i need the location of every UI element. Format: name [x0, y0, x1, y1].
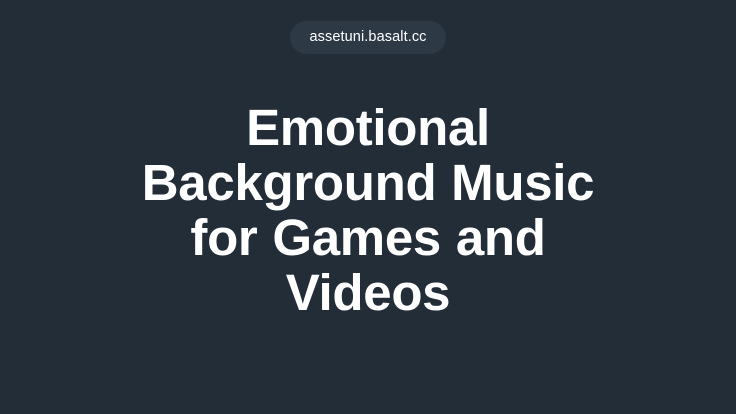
page-title: Emotional Background Music for Games and… — [108, 100, 628, 320]
page-root: assetuni.basalt.cc Emotional Background … — [0, 0, 736, 414]
hero-section: Emotional Background Music for Games and… — [0, 0, 736, 414]
